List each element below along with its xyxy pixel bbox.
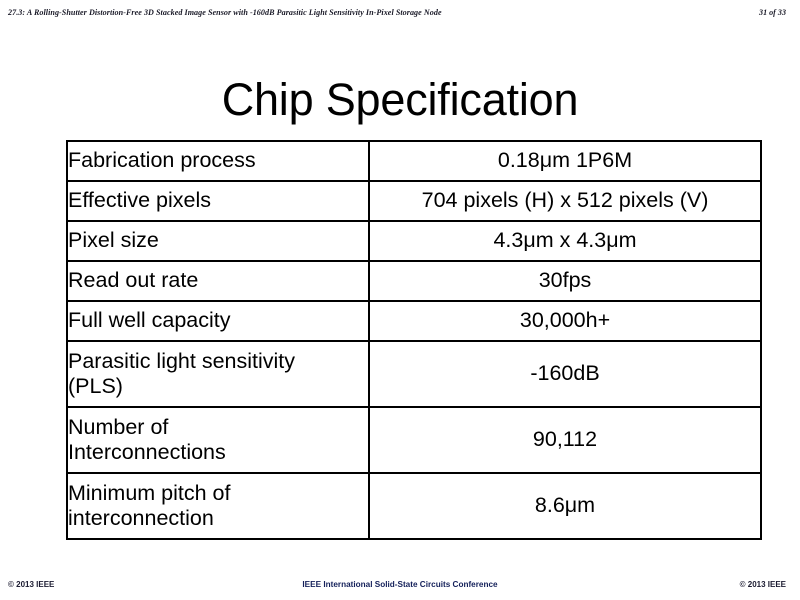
spec-value-cell: 704 pixels (H) x 512 pixels (V) [369,181,761,221]
spec-parameter-label-cont: Interconnections [68,440,368,465]
spec-parameter-cell: Pixel size [67,221,369,261]
table-row: Minimum pitch of interconnection 8.6μm [67,473,761,539]
spec-parameter-label: Fabrication process [68,148,368,173]
footer-copyright-left: © 2013 IEEE [8,580,54,589]
spec-table-container: Fabrication process 0.18μm 1P6M Effectiv… [66,140,760,540]
spec-parameter-label: Full well capacity [68,308,368,333]
chip-specification-table: Fabrication process 0.18μm 1P6M Effectiv… [66,140,762,540]
footer-conference-name: IEEE International Solid-State Circuits … [0,580,800,589]
spec-table-body: Fabrication process 0.18μm 1P6M Effectiv… [67,141,761,539]
table-row: Number of Interconnections 90,112 [67,407,761,473]
table-row: Read out rate 30fps [67,261,761,301]
spec-parameter-label: Number of [68,415,368,440]
spec-value-cell: 8.6μm [369,473,761,539]
table-row: Fabrication process 0.18μm 1P6M [67,141,761,181]
footer-copyright-right: © 2013 IEEE [740,580,790,589]
spec-value-cell: 0.18μm 1P6M [369,141,761,181]
spec-parameter-label: Read out rate [68,268,368,293]
spec-value-cell: -160dB [369,341,761,407]
spec-parameter-cell: Full well capacity [67,301,369,341]
table-row: Parasitic light sensitivity (PLS) -160dB [67,341,761,407]
paper-title-header: 27.3: A Rolling-Shutter Distortion-Free … [8,8,442,17]
slide-footer: © 2013 IEEE IEEE International Solid-Sta… [0,574,800,600]
spec-parameter-cell: Parasitic light sensitivity (PLS) [67,341,369,407]
table-row: Full well capacity 30,000h+ [67,301,761,341]
page-indicator: 31 of 33 [759,8,790,17]
spec-parameter-cell: Effective pixels [67,181,369,221]
spec-parameter-cell: Fabrication process [67,141,369,181]
spec-parameter-label: Effective pixels [68,188,368,213]
spec-parameter-cell: Read out rate [67,261,369,301]
spec-parameter-label-cont: interconnection [68,506,368,531]
table-row: Effective pixels 704 pixels (H) x 512 pi… [67,181,761,221]
slide-header: 27.3: A Rolling-Shutter Distortion-Free … [0,0,800,22]
spec-value-cell: 30,000h+ [369,301,761,341]
spec-parameter-cell: Minimum pitch of interconnection [67,473,369,539]
spec-parameter-label: Minimum pitch of [68,481,368,506]
spec-parameter-cell: Number of Interconnections [67,407,369,473]
spec-parameter-label-cont: (PLS) [68,374,368,399]
spec-parameter-label: Parasitic light sensitivity [68,349,368,374]
spec-value-cell: 90,112 [369,407,761,473]
page-title: Chip Specification [0,76,800,123]
table-row: Pixel size 4.3μm x 4.3μm [67,221,761,261]
spec-value-cell: 4.3μm x 4.3μm [369,221,761,261]
spec-parameter-label: Pixel size [68,228,368,253]
spec-value-cell: 30fps [369,261,761,301]
